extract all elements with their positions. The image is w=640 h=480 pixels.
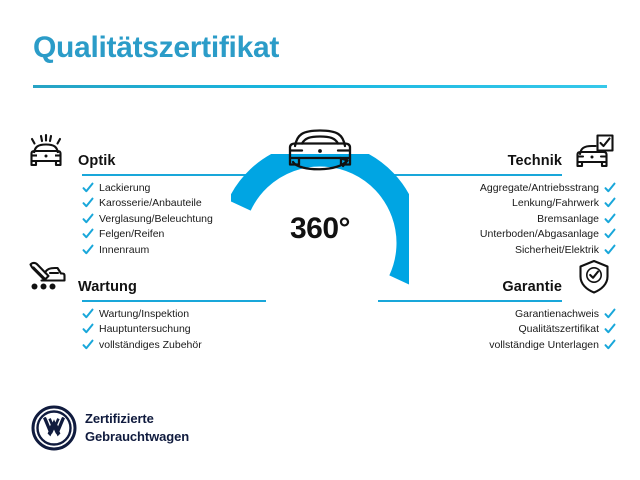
list-item: Wartung/Inspektion	[82, 306, 202, 322]
list-item-label: vollständiges Zubehör	[99, 340, 202, 351]
check-icon	[82, 323, 94, 335]
section-technik-header: Technik	[411, 131, 616, 171]
list-item-label: Hauptuntersuchung	[99, 324, 191, 335]
section-garantie-header: Garantie	[411, 257, 616, 297]
check-icon	[604, 197, 616, 209]
section-wartung-header: Wartung	[24, 257, 224, 297]
list-item: Lackierung	[82, 180, 213, 196]
list-item-label: Garantienachweis	[515, 309, 599, 320]
list-item-label: Verglasung/Beleuchtung	[99, 214, 213, 225]
check-icon	[82, 228, 94, 240]
section-wartung-title: Wartung	[78, 279, 137, 295]
badge-360-check: Gebrauchtwagen-Check 360°	[231, 154, 409, 332]
volkswagen-logo	[31, 405, 77, 451]
check-icon	[82, 339, 94, 351]
section-garantie-title-wrap: Garantie	[411, 278, 572, 297]
list-item: Hauptuntersuchung	[82, 322, 202, 338]
check-icon	[604, 213, 616, 225]
section-wartung: Wartung	[24, 257, 224, 297]
check-icon	[604, 308, 616, 320]
section-garantie: Garantie	[411, 257, 616, 297]
check-icon	[604, 323, 616, 335]
title-divider	[33, 85, 607, 88]
footer-brand-text: Zertifizierte Gebrauchtwagen	[85, 410, 189, 445]
list-item-label: Karosserie/Anbauteile	[99, 198, 202, 209]
check-icon	[82, 197, 94, 209]
section-wartung-list: Wartung/Inspektion Hauptuntersuchung vol…	[82, 306, 202, 353]
list-item: Karosserie/Anbauteile	[82, 196, 213, 212]
check-icon	[82, 244, 94, 256]
car-wrench-icon	[24, 257, 68, 297]
check-icon	[82, 182, 94, 194]
car-rotate-icon	[277, 122, 363, 180]
footer-line-1: Zertifizierte	[85, 410, 189, 428]
list-item-label: Qualitätszertifikat	[518, 324, 599, 335]
section-technik-title: Technik	[508, 153, 562, 169]
list-item: Aggregate/Antriebsstrang	[480, 180, 616, 196]
car-checkbox-icon	[572, 131, 616, 171]
section-optik-title-wrap: Optik	[68, 152, 224, 171]
check-icon	[604, 244, 616, 256]
section-optik: Optik	[24, 131, 224, 171]
section-technik-list: Aggregate/Antriebsstrang Lenkung/Fahrwer…	[480, 180, 616, 258]
check-icon	[82, 308, 94, 320]
list-item: vollständiges Zubehör	[82, 337, 202, 353]
list-item-label: Bremsanlage	[537, 214, 599, 225]
check-icon	[604, 228, 616, 240]
footer-line-2: Gebrauchtwagen	[85, 428, 189, 446]
check-icon	[604, 182, 616, 194]
list-item: Garantienachweis	[489, 306, 616, 322]
section-optik-list: Lackierung Karosserie/Anbauteile Verglas…	[82, 180, 213, 258]
list-item: Felgen/Reifen	[82, 227, 213, 243]
section-garantie-title: Garantie	[502, 279, 562, 295]
list-item-label: Lackierung	[99, 183, 150, 194]
list-item: Bremsanlage	[480, 211, 616, 227]
list-item-label: vollständige Unterlagen	[489, 340, 599, 351]
section-garantie-list: Garantienachweis Qualitätszertifikat vol…	[489, 306, 616, 353]
list-item-label: Aggregate/Antriebsstrang	[480, 183, 599, 194]
section-technik: Technik	[411, 131, 616, 171]
list-item: Sicherheit/Elektrik	[480, 242, 616, 258]
list-item: Verglasung/Beleuchtung	[82, 211, 213, 227]
section-optik-title: Optik	[78, 153, 116, 169]
certificate-page: Qualitätszertifikat	[0, 0, 640, 480]
list-item-label: Unterboden/Abgasanlage	[480, 229, 599, 240]
section-wartung-title-wrap: Wartung	[68, 278, 224, 297]
page-title: Qualitätszertifikat	[33, 32, 279, 64]
section-optik-header: Optik	[24, 131, 224, 171]
section-technik-title-wrap: Technik	[411, 152, 572, 171]
check-icon	[82, 213, 94, 225]
list-item-label: Felgen/Reifen	[99, 229, 164, 240]
list-item: Innenraum	[82, 242, 213, 258]
check-icon	[604, 339, 616, 351]
list-item: Unterboden/Abgasanlage	[480, 227, 616, 243]
list-item-label: Sicherheit/Elektrik	[515, 245, 599, 256]
list-item-label: Innenraum	[99, 245, 149, 256]
list-item-label: Lenkung/Fahrwerk	[512, 198, 599, 209]
list-item: Lenkung/Fahrwerk	[480, 196, 616, 212]
list-item: Qualitätszertifikat	[489, 322, 616, 338]
list-item: vollständige Unterlagen	[489, 337, 616, 353]
shield-check-icon	[572, 257, 616, 297]
list-item-label: Wartung/Inspektion	[99, 309, 189, 320]
car-shine-icon	[24, 131, 68, 171]
badge-center-label: 360°	[231, 212, 409, 246]
